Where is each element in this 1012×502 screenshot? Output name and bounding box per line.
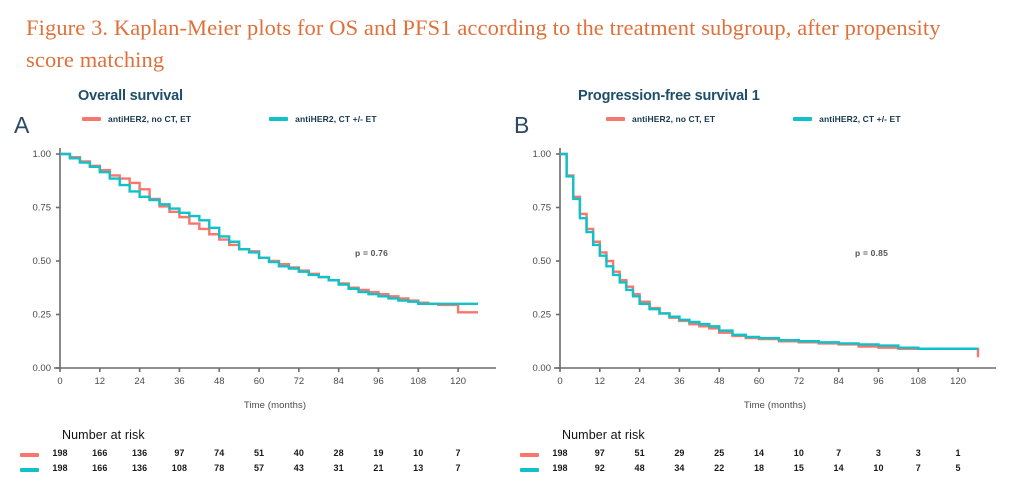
legend-b: antiHER2, no CT, ET antiHER2, CT +/- ET [606,114,901,124]
plot-area-a: 0.000.250.500.751.0001224364860728496108… [2,140,502,400]
risk-table-cell: 97 [174,448,184,458]
risk-table-cell: 10 [873,463,883,473]
legend-swatch-teal-icon [793,117,812,121]
svg-text:1.00: 1.00 [533,149,552,160]
legend-label-ct-et: antiHER2, CT +/- ET [295,114,376,124]
legend-swatch-salmon-icon [606,117,625,121]
risk-table-cell: 166 [92,448,107,458]
svg-text:60: 60 [754,376,765,387]
risk-table-cell: 5 [956,463,961,473]
risk-table-cell: 3 [916,448,921,458]
risk-swatch-teal-icon [520,468,539,472]
pvalue-a: p = 0.76 [355,248,388,258]
pvalue-b: p = 0.85 [855,248,888,258]
svg-text:12: 12 [95,376,106,387]
risk-table-cell: 136 [132,463,147,473]
risk-table-title-a: Number at risk [62,428,145,442]
svg-text:0: 0 [557,376,562,387]
risk-table-cell: 43 [294,463,304,473]
svg-text:72: 72 [294,376,305,387]
legend-label-ct-et: antiHER2, CT +/- ET [819,114,900,124]
km-plot-a: 0.000.250.500.751.0001224364860728496108… [2,140,502,400]
risk-table-cell: 166 [92,463,107,473]
legend-a: antiHER2, no CT, ET antiHER2, CT +/- ET [82,114,377,124]
risk-table-cell: 74 [214,448,224,458]
risk-swatch-teal-icon [20,468,39,472]
legend-label-no-ct-et: antiHER2, no CT, ET [108,114,191,124]
risk-table-cell: 34 [674,463,684,473]
risk-table-cell: 13 [413,463,423,473]
legend-swatch-salmon-icon [82,117,101,121]
svg-text:0.25: 0.25 [533,310,552,321]
svg-text:0.50: 0.50 [533,256,552,267]
svg-text:1.00: 1.00 [33,149,52,160]
risk-table-cell: 3 [876,448,881,458]
risk-table-cell: 198 [552,448,567,458]
risk-table-cell: 198 [52,448,67,458]
risk-table-cell: 21 [373,463,383,473]
panel-progression-free-survival: B Progression-free survival 1 antiHER2, … [502,88,1002,498]
risk-table-cell: 48 [635,463,645,473]
svg-text:84: 84 [333,376,344,387]
svg-text:0: 0 [57,376,62,387]
risk-table-cell: 31 [334,463,344,473]
legend-item-no-ct-et: antiHER2, no CT, ET [82,114,191,124]
risk-table-cell: 7 [456,448,461,458]
legend-item-ct-et: antiHER2, CT +/- ET [269,114,376,124]
risk-table-cell: 51 [254,448,264,458]
panel-title-a: Overall survival [78,88,183,104]
svg-text:24: 24 [634,376,645,387]
risk-table-cell: 28 [334,448,344,458]
svg-text:0.75: 0.75 [533,203,552,214]
risk-table-cell: 57 [254,463,264,473]
svg-text:48: 48 [214,376,225,387]
panel-letter-a: A [14,112,29,139]
risk-table-cell: 29 [674,448,684,458]
risk-swatch-salmon-icon [20,453,39,457]
risk-table-cell: 7 [836,448,841,458]
risk-table-cell: 10 [794,448,804,458]
risk-table-cell: 7 [456,463,461,473]
svg-text:84: 84 [833,376,844,387]
svg-text:96: 96 [373,376,384,387]
svg-text:0.00: 0.00 [533,363,552,374]
svg-text:108: 108 [410,376,426,387]
svg-text:0.50: 0.50 [33,256,52,267]
risk-table-cell: 78 [214,463,224,473]
panel-overall-survival: A Overall survival antiHER2, no CT, ET a… [2,88,502,498]
risk-table-cell: 136 [132,448,147,458]
risk-table-cell: 51 [635,448,645,458]
risk-table-cell: 7 [916,463,921,473]
risk-table-cell: 1 [956,448,961,458]
legend-item-no-ct-et: antiHER2, no CT, ET [606,114,715,124]
risk-table-cell: 198 [552,463,567,473]
risk-table-row: 198166136977451402819107 [2,448,502,463]
km-plot-b: 0.000.250.500.751.0001224364860728496108… [502,140,1002,400]
svg-text:72: 72 [794,376,805,387]
risk-table-cell: 10 [413,448,423,458]
risk-table-cell: 14 [754,448,764,458]
svg-text:0.25: 0.25 [33,310,52,321]
risk-table-cell: 198 [52,463,67,473]
risk-table-cell: 40 [294,448,304,458]
legend-item-ct-et: antiHER2, CT +/- ET [793,114,900,124]
risk-table-cell: 19 [373,448,383,458]
svg-text:120: 120 [450,376,466,387]
risk-table-cell: 14 [834,463,844,473]
svg-text:96: 96 [873,376,884,387]
svg-text:12: 12 [595,376,606,387]
x-axis-label-a: Time (months) [2,400,502,411]
plot-area-b: 0.000.250.500.751.0001224364860728496108… [502,140,1002,400]
risk-table-cell: 15 [794,463,804,473]
risk-table-cell: 25 [714,448,724,458]
risk-swatch-salmon-icon [520,453,539,457]
risk-table-cell: 92 [595,463,605,473]
panel-letter-b: B [514,112,529,139]
svg-text:48: 48 [714,376,725,387]
risk-table-row: 1981661361087857433121137 [2,463,502,478]
svg-text:36: 36 [674,376,685,387]
risk-table-cell: 22 [714,463,724,473]
legend-label-no-ct-et: antiHER2, no CT, ET [632,114,715,124]
risk-table-cell: 108 [172,463,187,473]
risk-table-row: 1989751292514107331 [502,448,1002,463]
svg-text:36: 36 [174,376,185,387]
risk-table-row: 198924834221815141075 [502,463,1002,478]
svg-text:0.00: 0.00 [33,363,52,374]
svg-text:0.75: 0.75 [33,203,52,214]
figure-caption: Figure 3. Kaplan-Meier plots for OS and … [26,12,986,76]
svg-text:60: 60 [254,376,265,387]
x-axis-label-b: Time (months) [502,400,1002,411]
legend-swatch-teal-icon [269,117,288,121]
svg-text:24: 24 [134,376,145,387]
risk-table-cell: 18 [754,463,764,473]
risk-table-title-b: Number at risk [562,428,645,442]
risk-table-cell: 97 [595,448,605,458]
panel-title-b: Progression-free survival 1 [578,88,760,104]
svg-text:120: 120 [950,376,966,387]
svg-text:108: 108 [910,376,926,387]
